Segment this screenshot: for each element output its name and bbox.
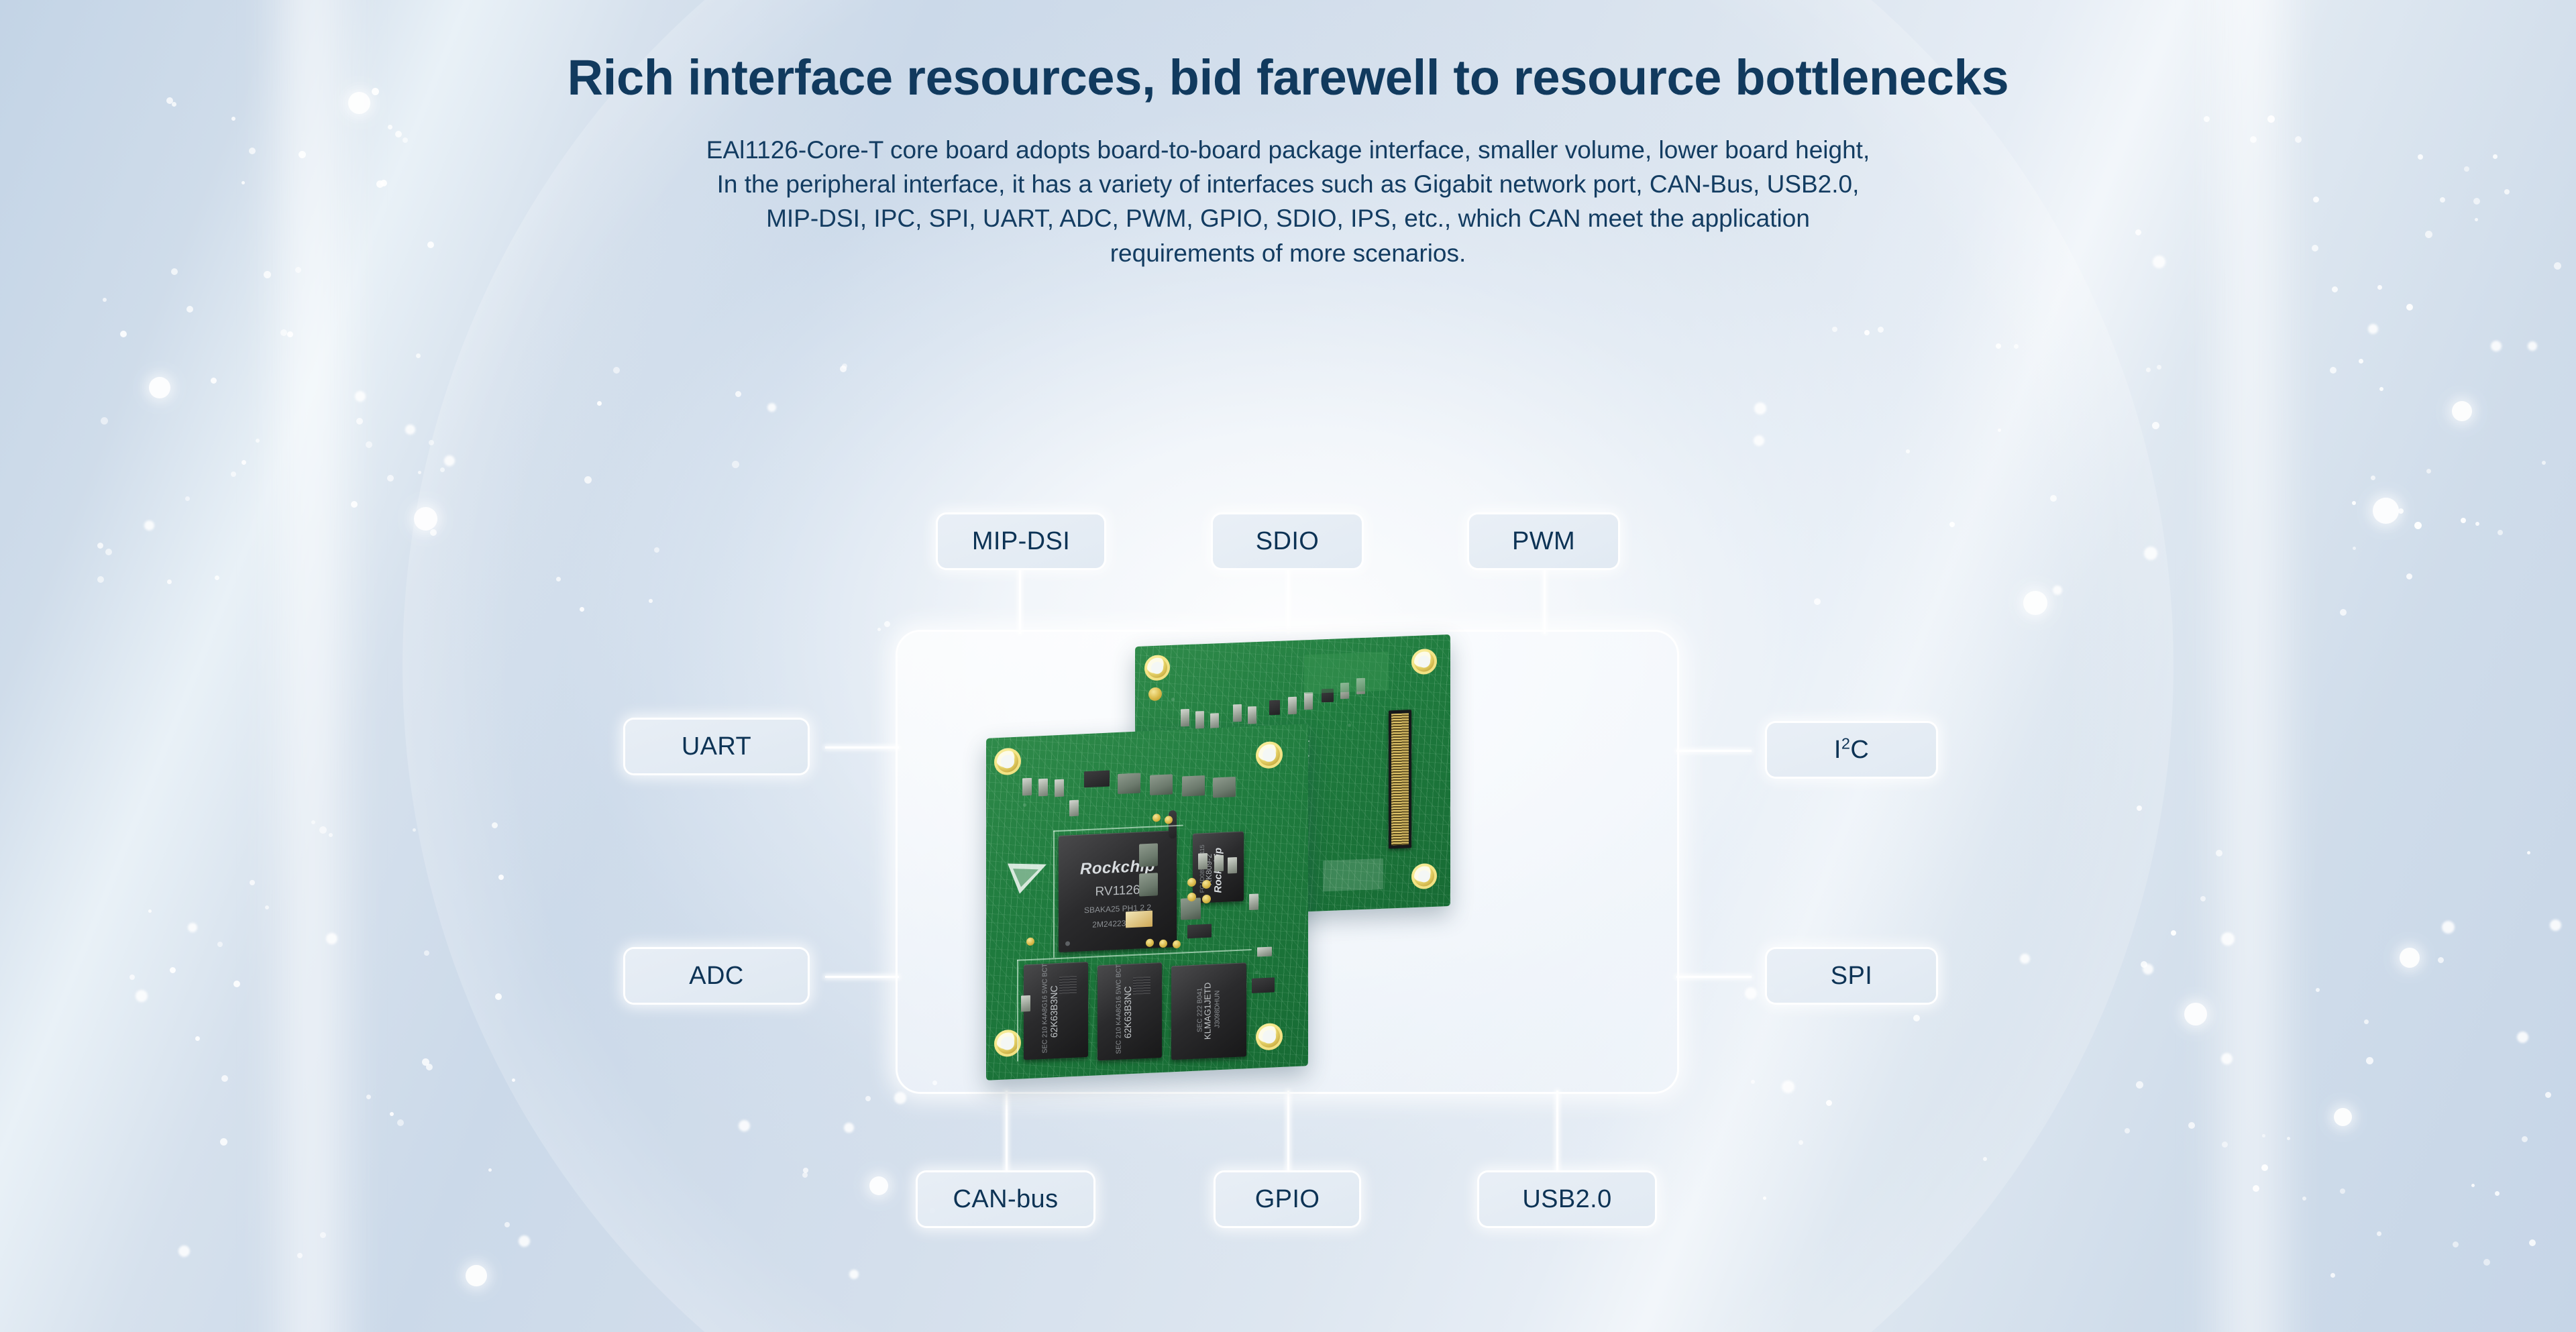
smd-resistor — [1257, 947, 1272, 957]
laser-datamatrix-mark — [1133, 977, 1150, 995]
connector-line-usb20 — [1556, 1091, 1558, 1174]
crystal-can — [1126, 911, 1152, 928]
interface-pill-label: I2C — [1834, 737, 1869, 763]
smd-capacitor — [1304, 692, 1313, 710]
power-inductor — [1139, 843, 1158, 867]
smd-capacitor — [1069, 800, 1079, 817]
connector-line-sdio — [1287, 567, 1289, 634]
smd-capacitor — [1228, 857, 1237, 874]
smd-capacitor — [1022, 778, 1032, 796]
connector-line-adc — [825, 976, 899, 978]
interface-pill-mip-dsi[interactable]: MIP-DSI — [938, 514, 1104, 568]
manufacturer-triangle-logo-icon — [1005, 855, 1049, 901]
dram-1-part-label: 62K63B3NC — [1049, 977, 1059, 1046]
smd-capacitor — [1021, 995, 1030, 1012]
silkscreen-line — [1017, 960, 1018, 1062]
dram-2-part-label: 62K63B3NC — [1122, 978, 1133, 1047]
silkscreen-block — [1323, 858, 1383, 891]
connector-line-can-bus — [1006, 1091, 1008, 1174]
ic-sot23 — [1252, 977, 1275, 993]
connector-line-gpio — [1287, 1091, 1289, 1174]
connector-line-spi — [1676, 976, 1752, 978]
interface-pill-label: SDIO — [1256, 529, 1320, 554]
smd-capacitor — [1198, 853, 1207, 870]
interface-pill-usb20[interactable]: USB2.0 — [1479, 1172, 1655, 1226]
pcb-front-board: Rockchip RV1126 SBAKA25 PH1 2 2 2M24223 … — [986, 724, 1308, 1080]
interface-pill-adc[interactable]: ADC — [625, 949, 808, 1003]
interface-pill-i2c[interactable]: I2C — [1767, 723, 1936, 777]
silkscreen-block — [1304, 652, 1389, 694]
interface-pill-label: SPI — [1831, 963, 1872, 989]
smd-capacitor — [1181, 709, 1189, 726]
laser-datamatrix-mark — [1059, 976, 1077, 994]
soc-code-line-1: SBAKA25 PH1 2 2 — [1059, 901, 1177, 916]
smd-capacitor — [1038, 779, 1048, 797]
power-inductor — [1118, 773, 1140, 794]
interface-pill-sdio[interactable]: SDIO — [1213, 514, 1362, 568]
interface-pill-label: PWM — [1512, 529, 1575, 554]
dram-chip-2: 62K63B3NC SEC 210 K4A8G16 5WC BCTD — [1097, 962, 1162, 1060]
connector-line-mip-dsi — [1019, 567, 1021, 634]
power-inductor — [1139, 873, 1158, 896]
slide-canvas: Rich interface resources, bid farewell t… — [0, 0, 2576, 1332]
pin-1-marker — [1065, 941, 1070, 946]
soc-chip-rv1126: Rockchip RV1126 SBAKA25 PH1 2 2 2M24223 … — [1059, 830, 1177, 952]
power-inductor — [1182, 775, 1205, 797]
ic-sot23 — [1187, 924, 1212, 939]
smd-capacitor — [1233, 704, 1242, 722]
smd-capacitor — [1248, 706, 1256, 724]
smd-capacitor — [1195, 711, 1204, 728]
interface-pill-uart[interactable]: UART — [625, 720, 808, 773]
smd-capacitor — [1214, 855, 1224, 872]
power-inductor — [1213, 777, 1236, 798]
silkscreen-line — [1053, 830, 1055, 958]
ic-sot23 — [1084, 771, 1110, 788]
smd-capacitor — [1055, 779, 1064, 797]
interface-pill-label: CAN-bus — [953, 1186, 1059, 1212]
connector-pins — [1391, 713, 1409, 845]
connector-line-pwm — [1544, 567, 1546, 634]
soc-part-label: RV1126 — [1059, 881, 1177, 901]
interface-pill-label: USB2.0 — [1522, 1186, 1611, 1212]
core-board-photo: Rockchip RV1126 SBAKA25 PH1 2 2 2M24223 … — [986, 641, 1523, 1083]
interface-pill-can-bus[interactable]: CAN-bus — [918, 1172, 1093, 1226]
interface-pill-spi[interactable]: SPI — [1767, 949, 1936, 1003]
emmc-part-label: KLMAG1JETD — [1203, 972, 1213, 1050]
power-inductor — [1150, 774, 1173, 795]
interface-pill-gpio[interactable]: GPIO — [1216, 1172, 1359, 1226]
dram-chip-1: 62K63B3NC SEC 210 K4A8G16 5WC BCTD — [1024, 962, 1088, 1060]
soc-brand-label: Rockchip — [1059, 856, 1177, 880]
interface-pill-pwm[interactable]: PWM — [1469, 514, 1618, 568]
interface-pill-label: MIP-DSI — [972, 529, 1070, 554]
smd-capacitor — [1249, 893, 1258, 910]
interface-diagram: MIP-DSI SDIO PWM UART ADC I2C SPI CAN-bu… — [0, 0, 2576, 1332]
dram-1-code-label: SEC 210 K4A8G16 5WC BCTD — [1042, 967, 1049, 1053]
smd-resistor — [1269, 700, 1280, 716]
board-to-board-connector — [1389, 710, 1411, 848]
smd-capacitor — [1288, 697, 1297, 714]
interface-pill-label: UART — [682, 734, 751, 759]
interface-pill-label: GPIO — [1255, 1186, 1320, 1212]
emmc-chip: KLMAG1JETD SEC 222 B041 J3098DHUN — [1171, 962, 1246, 1060]
emmc-code-label: SEC 222 B041 — [1197, 964, 1204, 1056]
connector-line-i2c — [1676, 750, 1752, 752]
soc-code-line-2: 2M24223 GJ0 — [1059, 916, 1177, 931]
interface-pill-label: ADC — [689, 963, 743, 989]
dram-2-code-label: SEC 210 K4A8G16 5WC BCTD — [1116, 968, 1123, 1054]
connector-line-uart — [825, 746, 899, 748]
emmc-code-label-2: J3098DHUN — [1214, 980, 1222, 1038]
